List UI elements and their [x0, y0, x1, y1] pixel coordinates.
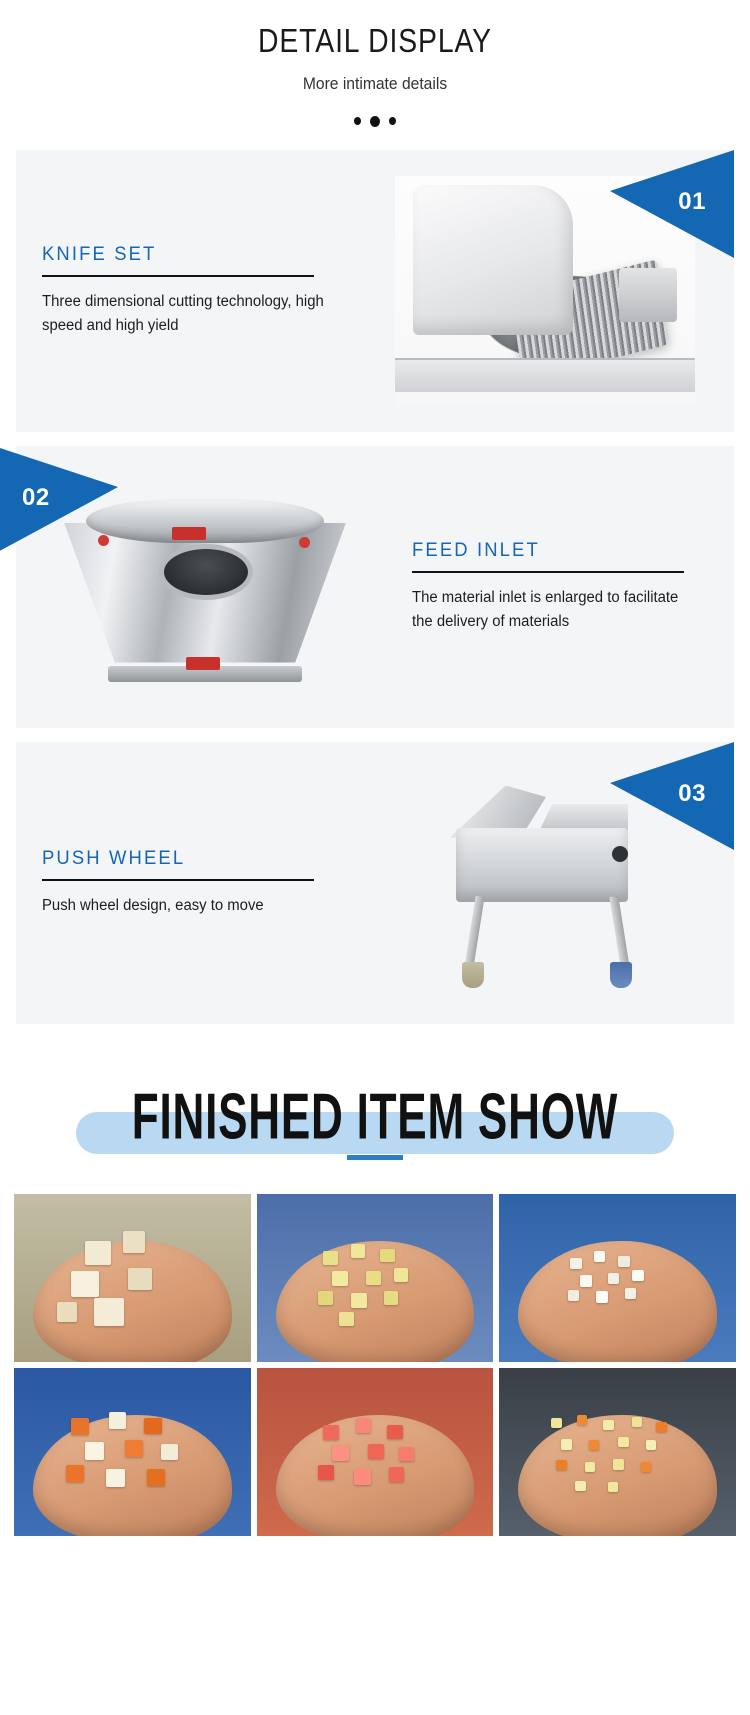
push-wheel-photo — [420, 776, 670, 991]
feature-panel-push-wheel: PUSH WHEEL Push wheel design, easy to mo… — [16, 742, 734, 1024]
machine-leg — [464, 895, 484, 968]
feature-image-knife-set — [356, 150, 734, 432]
feature-image-push-wheel — [356, 742, 734, 1024]
feature-panel-feed-inlet: FEED INLET The material inlet is enlarge… — [16, 446, 734, 728]
caster-wheel — [610, 962, 632, 988]
red-knob — [299, 537, 310, 548]
caster-wheel — [462, 962, 484, 988]
feature-panel-knife-set: KNIFE SET Three dimensional cutting tech… — [16, 150, 734, 432]
showcase-banner: FINISHED ITEM SHOW — [0, 1060, 750, 1172]
feature-title: FEED INLET — [412, 540, 724, 562]
red-knob — [98, 535, 109, 546]
feature-title: PUSH WHEEL — [42, 848, 347, 870]
dot-icon — [389, 117, 396, 125]
feature-panels: KNIFE SET Three dimensional cutting tech… — [0, 150, 750, 1024]
decorative-dots — [0, 114, 750, 128]
knife-set-photo — [395, 176, 695, 406]
product-photo-cell — [499, 1368, 736, 1536]
feature-text-block: PUSH WHEEL Push wheel design, easy to mo… — [16, 742, 356, 1024]
diced-product-cubes — [14, 1194, 251, 1362]
machine-base — [395, 358, 695, 392]
page-subtitle: More intimate details — [30, 74, 720, 94]
machine-knob — [612, 846, 628, 862]
dot-icon — [370, 116, 380, 127]
hopper-opening — [164, 549, 248, 595]
title-divider — [412, 571, 684, 573]
feature-description: Push wheel design, easy to move — [42, 894, 330, 918]
product-photo-cell — [499, 1194, 736, 1362]
product-photo-cell — [14, 1194, 251, 1362]
diced-product-cubes — [499, 1194, 736, 1362]
showcase-title: FINISHED ITEM SHOW — [132, 1078, 618, 1153]
machine-leg — [609, 895, 629, 968]
diced-product-cubes — [257, 1368, 494, 1536]
product-detail-page: DETAIL DISPLAY More intimate details KNI… — [0, 0, 750, 1556]
product-photo-cell — [257, 1368, 494, 1536]
product-photo-cell — [257, 1194, 494, 1362]
title-divider — [42, 879, 314, 881]
dot-icon — [354, 117, 361, 125]
product-photo-cell — [14, 1368, 251, 1536]
product-photo-grid — [0, 1194, 750, 1556]
diced-product-cubes — [499, 1368, 736, 1536]
banner-underline-accent — [347, 1155, 403, 1160]
warning-label — [172, 527, 206, 540]
page-title: DETAIL DISPLAY — [53, 22, 698, 60]
title-divider — [42, 275, 314, 277]
machine-body — [456, 828, 628, 902]
page-header: DETAIL DISPLAY More intimate details — [0, 0, 750, 128]
feature-image-feed-inlet — [16, 446, 394, 728]
diced-product-cubes — [14, 1368, 251, 1536]
machine-shaft — [619, 268, 677, 322]
finished-item-showcase: FINISHED ITEM SHOW — [0, 1060, 750, 1556]
feed-inlet-photo — [60, 475, 350, 700]
diced-product-cubes — [257, 1194, 494, 1362]
feature-text-block: KNIFE SET Three dimensional cutting tech… — [16, 150, 356, 432]
feature-text-block: FEED INLET The material inlet is enlarge… — [394, 446, 734, 728]
feature-description: The material inlet is enlarged to facili… — [412, 586, 700, 634]
warning-label — [186, 657, 220, 670]
feature-description: Three dimensional cutting technology, hi… — [42, 290, 330, 338]
feature-title: KNIFE SET — [42, 244, 347, 266]
